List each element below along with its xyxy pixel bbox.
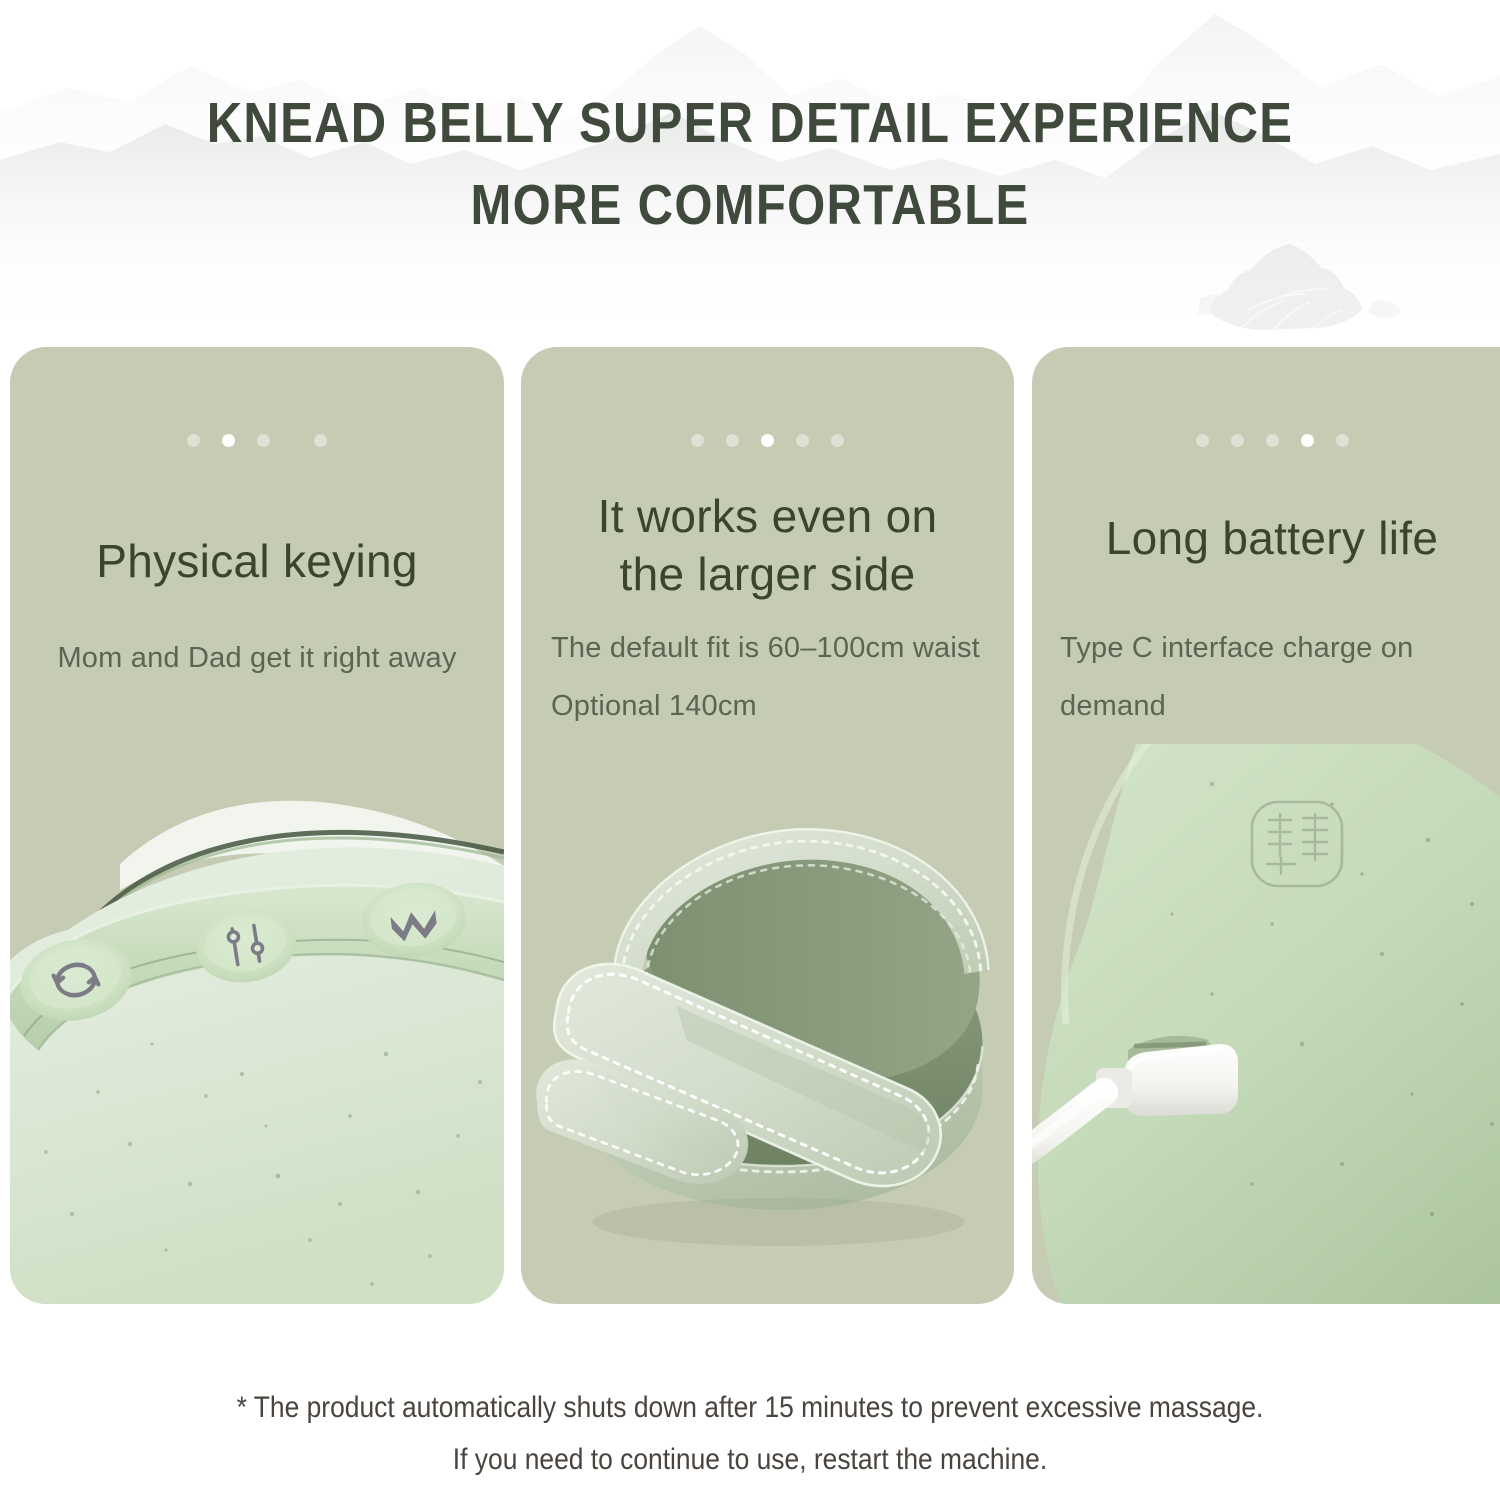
dot-active [1301, 434, 1314, 447]
card-subtitle-line-2: demand [1060, 677, 1480, 735]
footer-note-line-2: If you need to continue to use, restart … [90, 1434, 1410, 1486]
dot [314, 434, 327, 447]
card-subtitle-line-1: Type C interface charge on [1060, 619, 1480, 677]
card-dot-indicator [521, 434, 1014, 447]
coiled-waist-belt-image [521, 744, 1014, 1304]
card-title: It works even on the larger side [521, 487, 1014, 603]
card-title: Long battery life [1032, 509, 1500, 567]
device-control-bar-image [10, 744, 504, 1304]
card-title-line-2: the larger side [541, 545, 994, 603]
dot [831, 434, 844, 447]
card-dot-indicator [10, 434, 504, 447]
type-c-charging-image [1032, 744, 1500, 1304]
feature-card-battery-life[interactable]: Long battery life Type C interface charg… [1032, 347, 1500, 1304]
dot-active [761, 434, 774, 447]
footer-note: * The product automatically shuts down a… [0, 1382, 1500, 1486]
card-dot-indicator [1032, 434, 1500, 447]
card-subtitle-line-2: Optional 140cm [551, 677, 991, 735]
feature-card-row: Physical keying Mom and Dad get it right… [0, 347, 1500, 1304]
dot [1231, 434, 1244, 447]
footer-note-line-1: * The product automatically shuts down a… [90, 1382, 1410, 1434]
dot [796, 434, 809, 447]
dot [257, 434, 270, 447]
headline-line-1: KNEAD BELLY SUPER DETAIL EXPERIENCE [105, 82, 1395, 164]
card-subtitle-line-1: The default fit is 60–100cm waist [551, 619, 991, 677]
dot [1196, 434, 1209, 447]
headline-line-2: MORE COMFORTABLE [105, 164, 1395, 246]
page-headline: KNEAD BELLY SUPER DETAIL EXPERIENCE MORE… [0, 82, 1500, 246]
dot [1266, 434, 1279, 447]
feature-card-larger-side[interactable]: It works even on the larger side The def… [521, 347, 1014, 1304]
dot [691, 434, 704, 447]
dot [726, 434, 739, 447]
card-subtitle: Type C interface charge on demand [1060, 619, 1480, 735]
card-subtitle: Mom and Dad get it right away [10, 629, 504, 687]
card-subtitle: The default fit is 60–100cm waist Option… [551, 619, 991, 735]
feature-card-physical-keying[interactable]: Physical keying Mom and Dad get it right… [10, 347, 504, 1304]
dot [187, 434, 200, 447]
dot [1336, 434, 1349, 447]
card-title-line-1: It works even on [541, 487, 994, 545]
dot-active [222, 434, 235, 447]
card-title: Physical keying [10, 532, 504, 590]
